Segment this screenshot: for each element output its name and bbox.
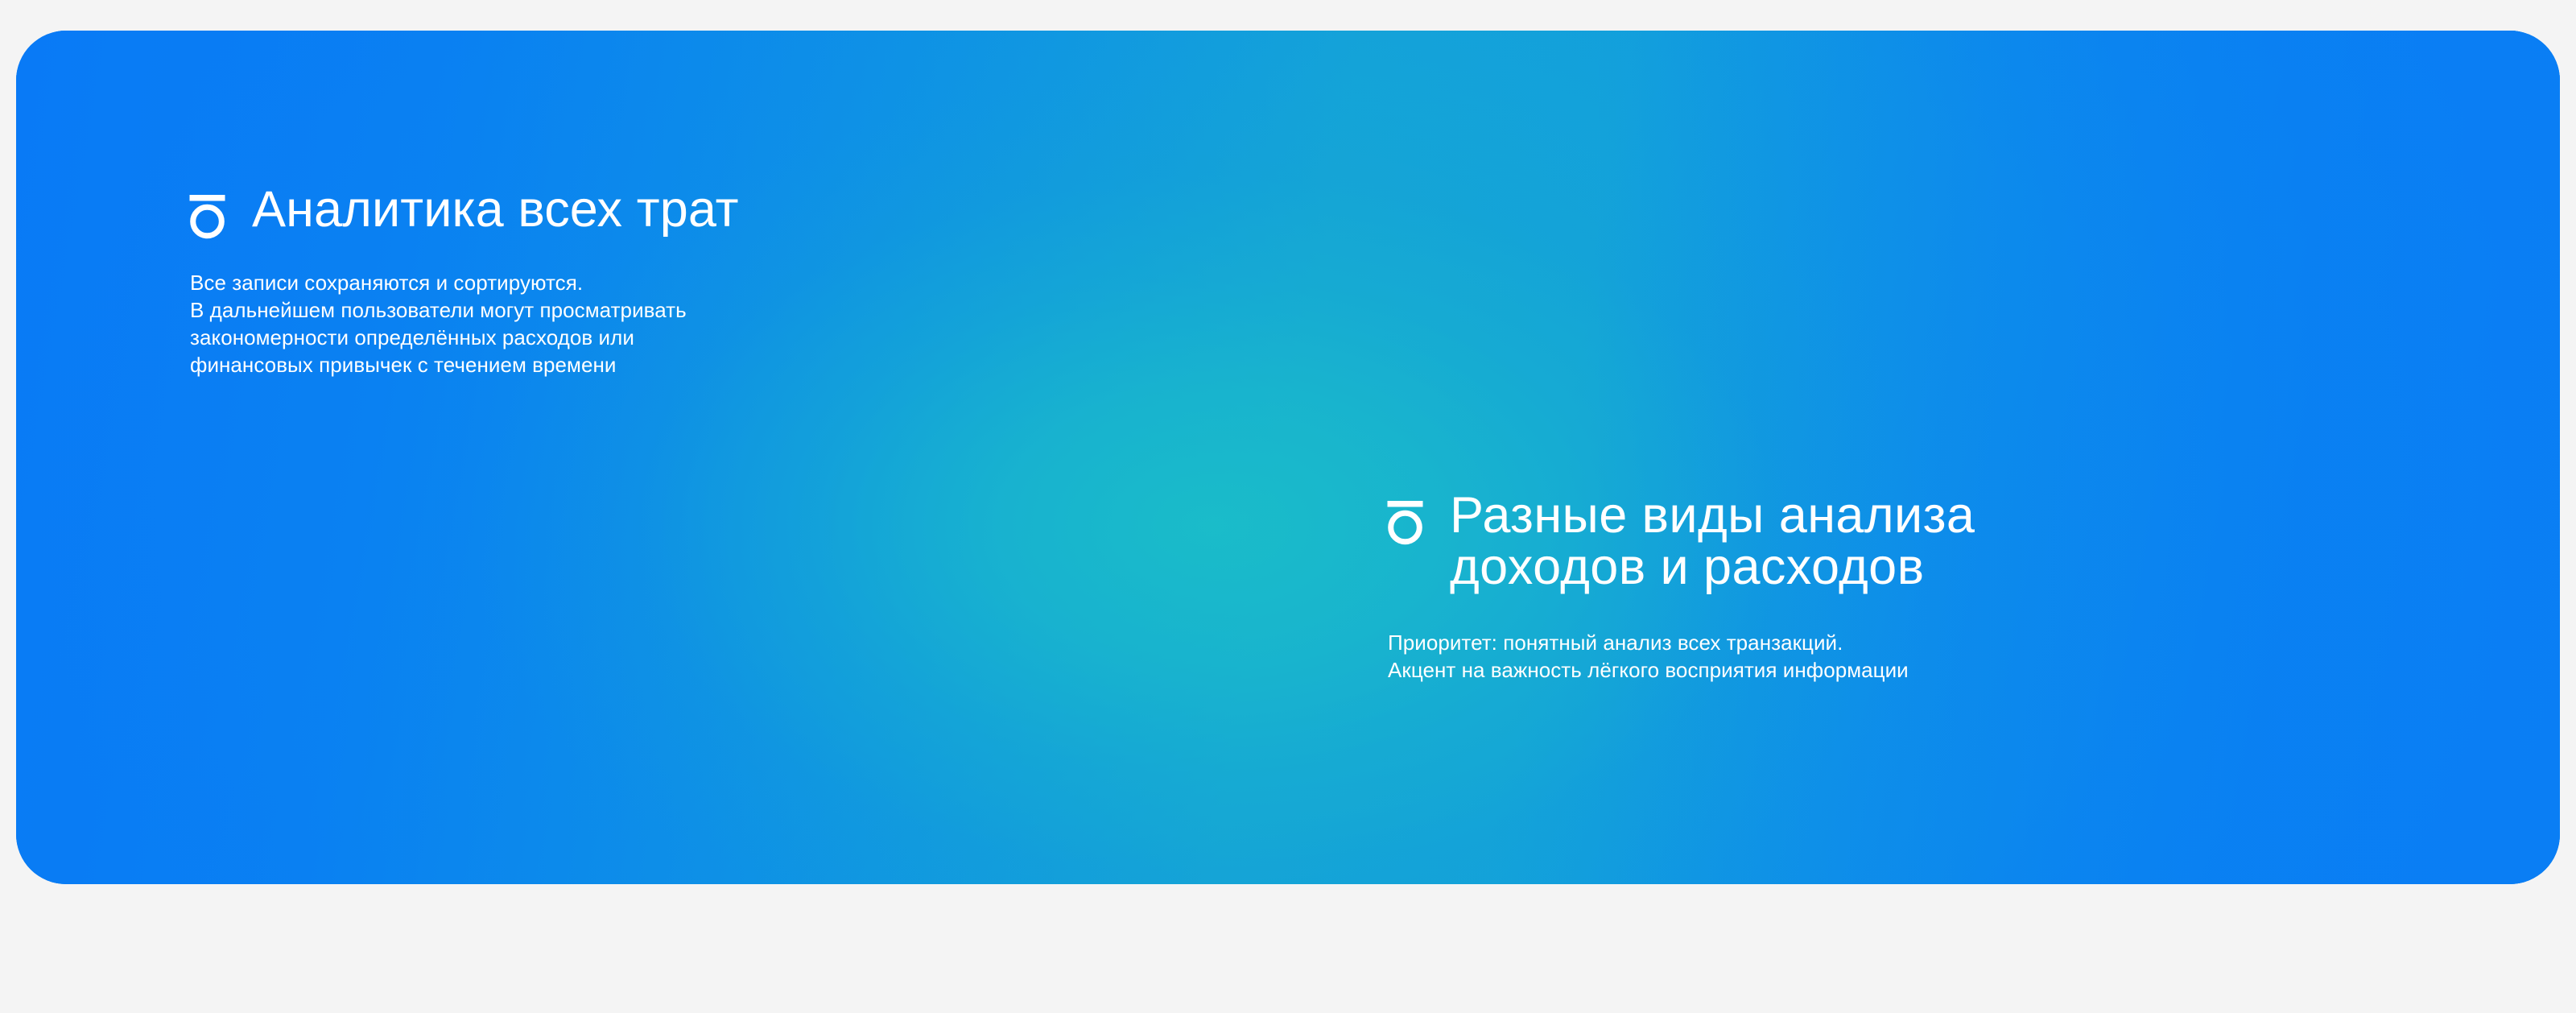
page-canvas: Аналитика всех трат Все записи сохраняют… xyxy=(0,0,2576,1013)
feature-block-types-of-income-expense-analysis: Разные виды анализа доходов и расходов П… xyxy=(1386,490,1975,684)
feature-body-left: Все записи сохраняются и сортируются. В … xyxy=(190,269,739,378)
feature-heading-right-text: Разные виды анализа доходов и расходов xyxy=(1450,490,1975,593)
card-content: Аналитика всех трат Все записи сохраняют… xyxy=(16,31,2560,884)
feature-heading-left-text: Аналитика всех трат xyxy=(252,184,739,235)
barred-o-icon xyxy=(1386,501,1424,545)
feature-card: Аналитика всех трат Все записи сохраняют… xyxy=(16,31,2560,884)
feature-body-right: Приоритет: понятный анализ всех транзакц… xyxy=(1388,629,1975,684)
barred-o-icon xyxy=(188,195,226,239)
feature-heading-left: Аналитика всех трат xyxy=(188,184,739,239)
feature-heading-right: Разные виды анализа доходов и расходов xyxy=(1386,490,1975,593)
feature-block-analytics-of-all-spending: Аналитика всех трат Все записи сохраняют… xyxy=(188,184,739,378)
